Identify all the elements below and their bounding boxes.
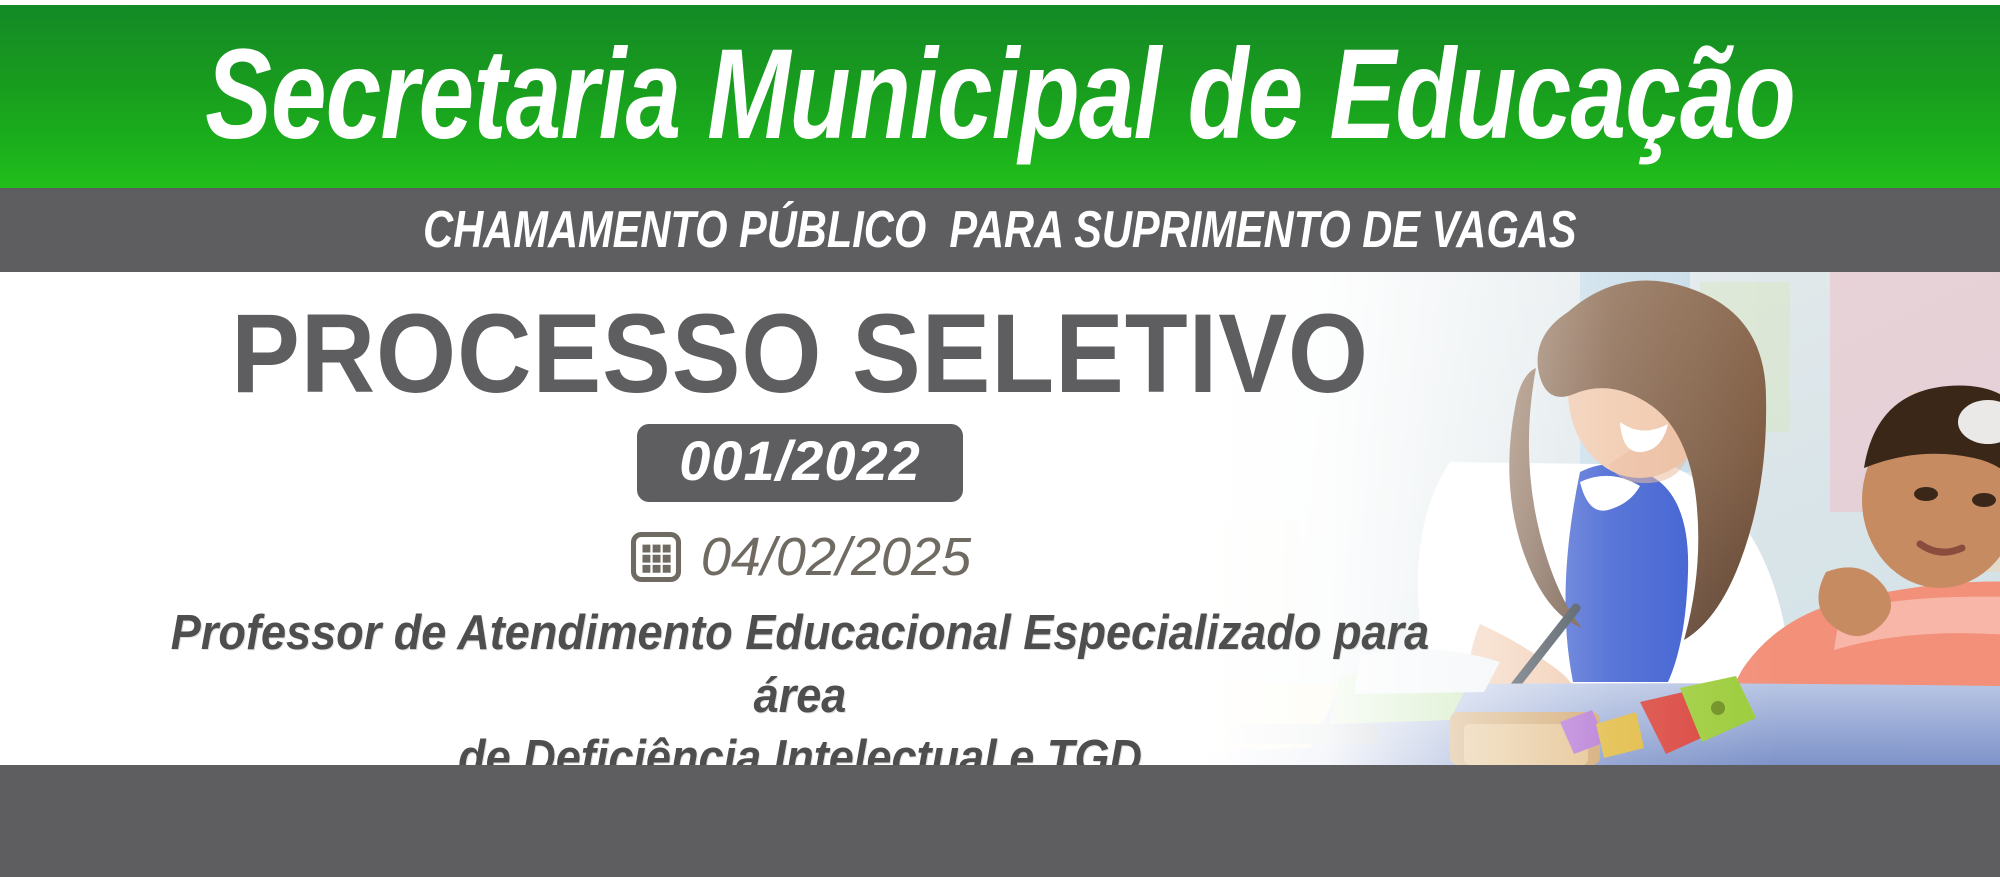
- position-description-line2: de Deficiência Intelectual e TGD: [119, 727, 1481, 765]
- date-row: 04/02/2025: [0, 530, 1600, 584]
- footer-bar: WWW.VENDANOVA.ES.GOV.BR VENDA NOVA DO IM…: [0, 765, 2000, 877]
- process-title: PROCESSO SELETIVO: [64, 298, 1536, 410]
- calendar-icon: [629, 530, 683, 584]
- main-content-area: PROCESSO SELETIVO 001/2022: [0, 272, 2000, 765]
- gray-subtitle-band: CHAMAMENTO PÚBLICO PARA SUPRIMENTO DE VA…: [0, 188, 2000, 272]
- banner-root: Secretaria Municipal de Educação CHAMAME…: [0, 0, 2000, 877]
- content-stack: PROCESSO SELETIVO 001/2022: [0, 272, 1600, 765]
- page-title: Secretaria Municipal de Educação: [205, 31, 1795, 159]
- date-text: 04/02/2025: [701, 530, 971, 584]
- subtitle-text: CHAMAMENTO PÚBLICO PARA SUPRIMENTO DE VA…: [423, 204, 1576, 256]
- position-description-line1: Professor de Atendimento Educacional Esp…: [119, 602, 1481, 727]
- status-badge: 001/2022: [637, 424, 963, 502]
- position-description: Professor de Atendimento Educacional Esp…: [119, 602, 1481, 765]
- green-header-band: Secretaria Municipal de Educação: [0, 5, 2000, 188]
- process-number-row: 001/2022: [0, 424, 1600, 502]
